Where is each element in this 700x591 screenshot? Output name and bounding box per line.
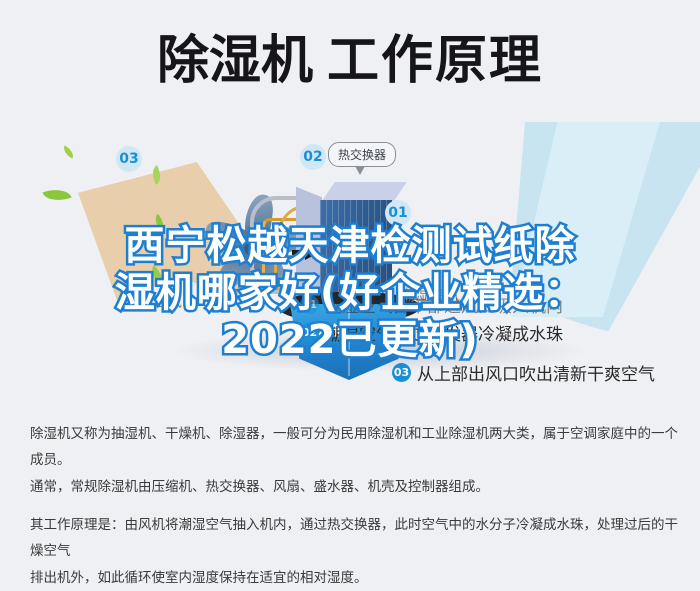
diagram-caption-02: 02 潮湿空气经过蒸发器冷凝成水珠	[300, 320, 563, 345]
heat-exchanger-callout: 热交换器	[328, 142, 396, 167]
caption-badge-01: 01	[300, 295, 319, 314]
dehumidifier-diagram: 水箱 03 02 01 热交换器 干燥空气 潮湿空气 01 潮湿空气由下部进风口…	[0, 122, 700, 412]
heat-exchanger-fins	[320, 200, 392, 292]
diagram-caption-01: 01 潮湿空气由下部进风口吸入机内	[300, 292, 563, 317]
caption-badge-03: 03	[392, 363, 411, 382]
page-title: 除湿机工作原理	[157, 35, 543, 87]
paragraph-1-line-2: 通常，常规除湿机由压缩机、热交换器、风扇、盛水器、机壳及控制器组成。	[30, 474, 678, 500]
airflow-arrow-icon	[305, 246, 318, 260]
diagram-badge-02: 02	[300, 144, 326, 170]
paragraph-2-line-2: 排出机外，如此循环使室内湿度保持在适宜的相对湿度。	[30, 565, 678, 591]
dry-air-label: 干燥空气	[122, 290, 182, 311]
caption-text-02: 潮湿空气经过蒸发器冷凝成水珠	[325, 320, 563, 345]
diagram-caption-03: 03 从上部出风口吹出清新干爽空气	[392, 360, 655, 385]
caption-text-03: 从上部出风口吹出清新干爽空气	[417, 360, 655, 385]
page-title-part2: 工作原理	[327, 31, 543, 91]
diagram-badge-03: 03	[116, 146, 142, 172]
heat-exchanger-side	[296, 187, 322, 298]
page-header: 除湿机工作原理	[0, 0, 700, 122]
caption-badge-02: 02	[300, 323, 319, 342]
article-body: 除湿机又称为抽湿机、干燥机、除湿器，一般可分为民用除湿机和工业除湿机两大类，属于…	[30, 421, 678, 591]
diagram-badge-01: 01	[385, 200, 411, 226]
paragraph-2-line-1: 其工作原理是：由风机将潮湿空气抽入机内，通过热交换器，此时空气中的水分子冷凝成水…	[30, 512, 678, 565]
leaf-icon	[42, 184, 71, 205]
leaf-icon	[61, 145, 76, 158]
paragraph-spacer	[30, 500, 678, 512]
caption-text-01: 潮湿空气由下部进风口吸入机内	[325, 292, 563, 317]
paragraph-1-line-1: 除湿机又称为抽湿机、干燥机、除湿器，一般可分为民用除湿机和工业除湿机两大类，属于…	[30, 421, 678, 474]
page-title-part1: 除湿机	[157, 31, 313, 91]
